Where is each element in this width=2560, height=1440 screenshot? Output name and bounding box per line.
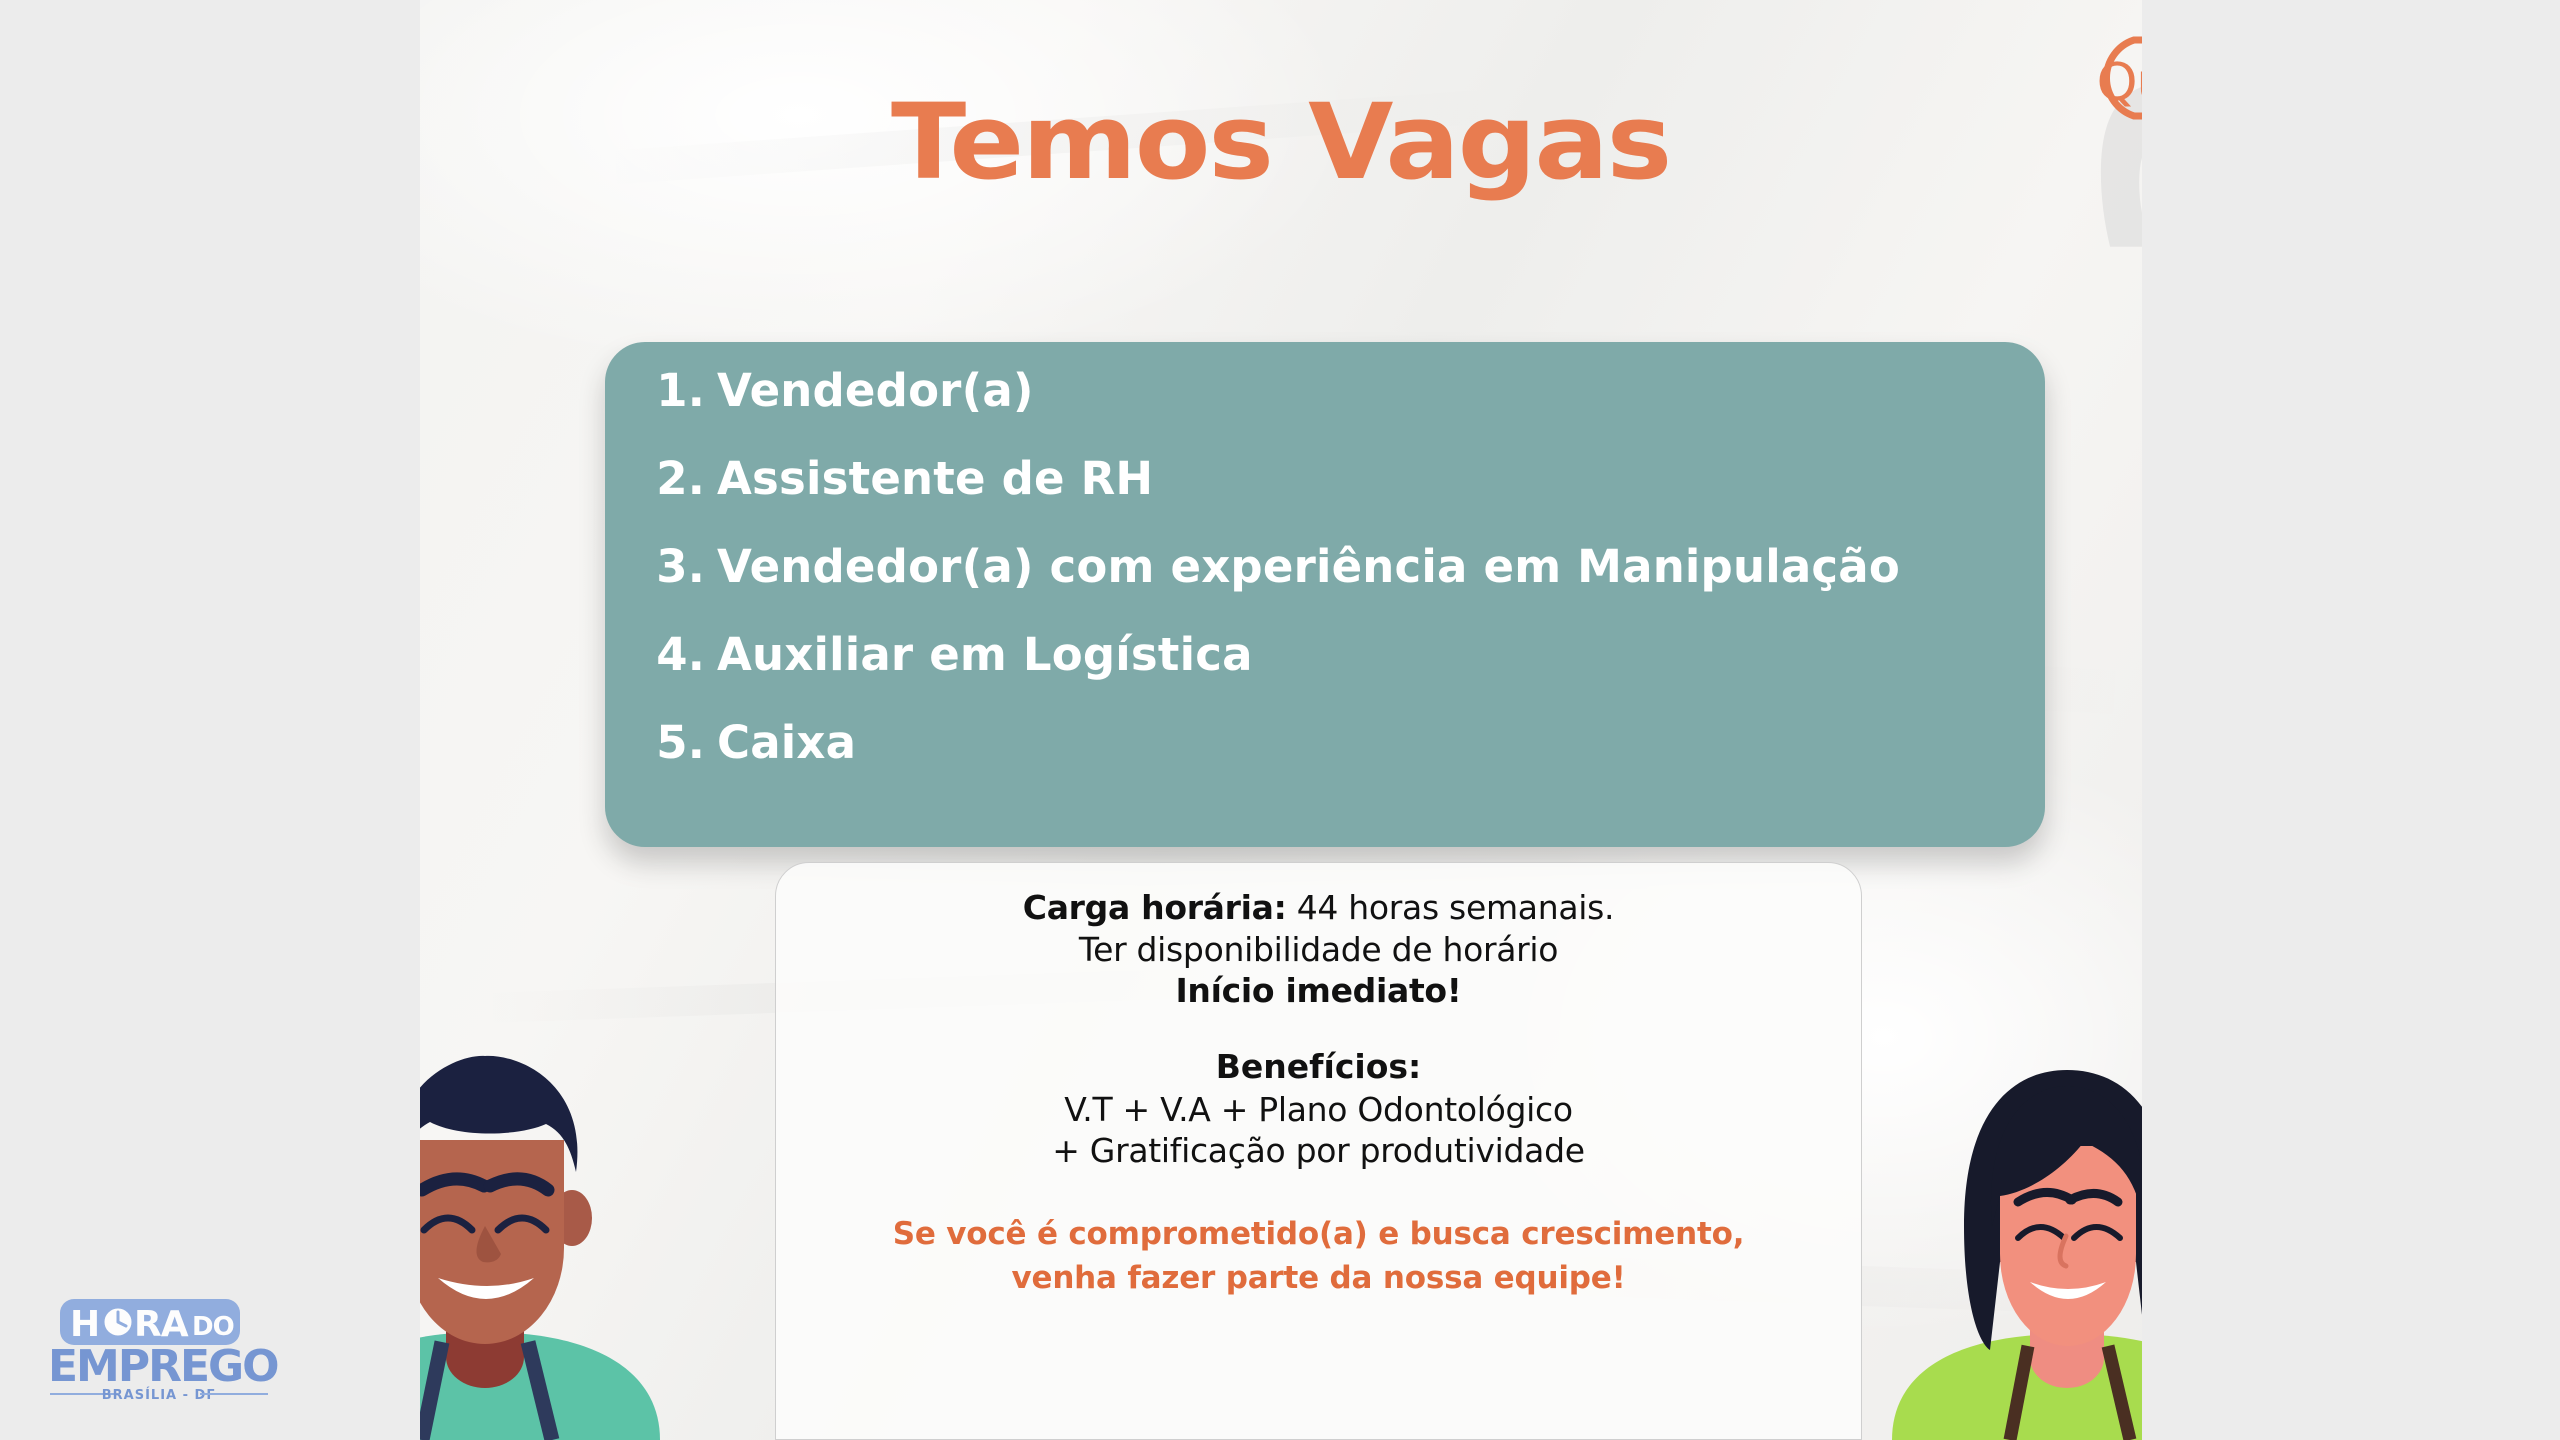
page-title-text: Temos Vagas: [891, 90, 1670, 194]
cta-line-1: Se você é comprometido(a) e busca cresci…: [776, 1212, 1861, 1256]
benefits-title: Benefícios:: [776, 1046, 1861, 1089]
jobs-panel: 1. Vendedor(a) 2. Assistente de RH 3. Ve…: [605, 342, 2045, 847]
svg-text:DO: DO: [192, 1312, 234, 1342]
list-item-label: Caixa: [717, 720, 856, 765]
illustration-female-employee: [1852, 1050, 2142, 1440]
list-item-number: 5.: [643, 720, 705, 765]
page-title: Temos Vagas: [420, 90, 2142, 194]
svg-text:Quality: Quality: [2097, 53, 2142, 113]
job-poster: a R Quality Temos Vagas 1. Vendedor(a): [420, 0, 2142, 1440]
hora-do-emprego-watermark: H RA DO EMPREGO BRASÍLIA - DF: [34, 1295, 284, 1403]
jobs-list: 1. Vendedor(a) 2. Assistente de RH 3. Ve…: [605, 368, 2045, 808]
list-item-label: Auxiliar em Logística: [717, 632, 1253, 677]
benefits-line-1: V.T + V.A + Plano Odontológico: [776, 1089, 1861, 1131]
start-text: Início imediato!: [1175, 971, 1461, 1010]
screenshot-root: a R Quality Temos Vagas 1. Vendedor(a): [0, 0, 2560, 1440]
list-item-label: Vendedor(a): [717, 368, 1034, 413]
workload-line: Carga horária: 44 horas semanais.: [776, 887, 1861, 929]
list-item-number: 3.: [643, 544, 705, 589]
list-item-number: 2.: [643, 456, 705, 501]
list-item-number: 4.: [643, 632, 705, 677]
svg-text:EMPREGO: EMPREGO: [48, 1341, 278, 1392]
list-item: 5. Caixa: [643, 720, 2045, 808]
call-to-action: Se você é comprometido(a) e busca cresci…: [776, 1212, 1861, 1300]
letterbox-right: [2142, 0, 2560, 1440]
workload-value: 44 horas semanais.: [1287, 888, 1615, 927]
list-item-label: Vendedor(a) com experiência em Manipulaç…: [717, 544, 1900, 589]
svg-text:BRASÍLIA - DF: BRASÍLIA - DF: [102, 1387, 216, 1403]
svg-text:H: H: [70, 1304, 99, 1345]
list-item: 2. Assistente de RH: [643, 456, 2045, 544]
cta-line-2: venha fazer parte da nossa equipe!: [776, 1256, 1861, 1300]
details-card: Carga horária: 44 horas semanais. Ter di…: [775, 862, 1862, 1440]
start-line: Início imediato!: [776, 970, 1861, 1012]
list-item: 1. Vendedor(a): [643, 368, 2045, 456]
svg-text:RA: RA: [134, 1304, 189, 1345]
quality-logo: Quality: [2079, 30, 2142, 125]
list-item-label: Assistente de RH: [717, 456, 1153, 501]
letterbox-left: [0, 0, 420, 1440]
spacer: [776, 1012, 1861, 1046]
benefits-line-2: + Gratificação por produtividade: [776, 1130, 1861, 1172]
list-item: 3. Vendedor(a) com experiência em Manipu…: [643, 544, 2045, 632]
list-item: 4. Auxiliar em Logística: [643, 632, 2045, 720]
workload-label: Carga horária:: [1023, 888, 1287, 927]
list-item-number: 1.: [643, 368, 705, 413]
illustration-male-employee: [420, 1050, 700, 1440]
availability-line: Ter disponibilidade de horário: [776, 929, 1861, 971]
